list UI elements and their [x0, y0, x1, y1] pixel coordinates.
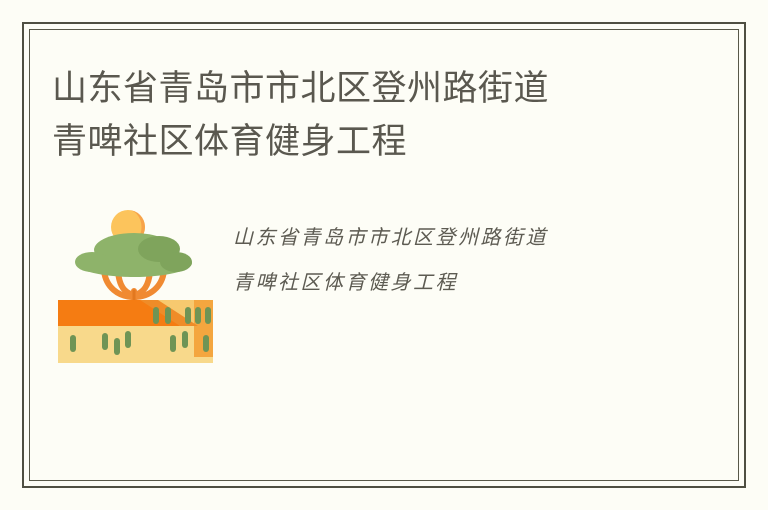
caption-line-1: 山东省青岛市市北区登州路街道: [233, 216, 693, 261]
caption-block: 山东省青岛市市北区登州路街道 青啤社区体育健身工程: [233, 216, 693, 306]
page-title-line-1: 山东省青岛市市北区登州路街道: [52, 62, 692, 115]
caption-line-2: 青啤社区体育健身工程: [233, 261, 693, 306]
tree-canopy-icon: [75, 233, 192, 277]
savanna-illustration: [58, 205, 213, 363]
page-title-line-2: 青啤社区体育健身工程: [52, 115, 692, 168]
poster-canvas: 山东省青岛市市北区登州路街道 青啤社区体育健身工程: [0, 0, 768, 510]
content-row: 山东省青岛市市北区登州路街道 青啤社区体育健身工程: [58, 200, 698, 370]
page-title: 山东省青岛市市北区登州路街道 青啤社区体育健身工程: [52, 62, 692, 168]
